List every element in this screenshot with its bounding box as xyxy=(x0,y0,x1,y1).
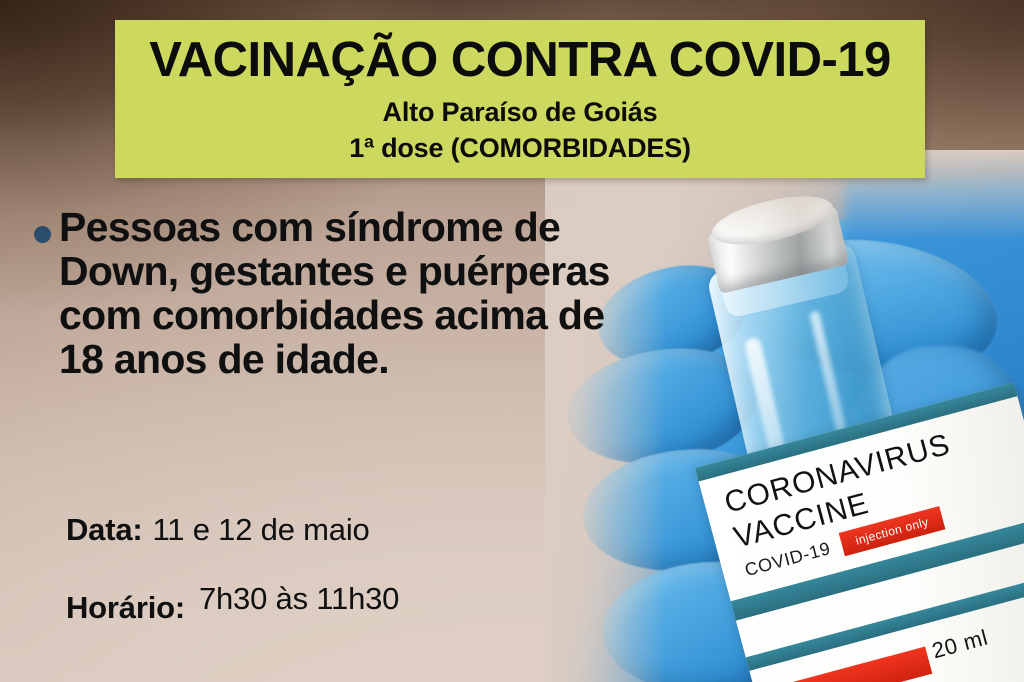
time-row: Horário: 7h30 às 11h30 xyxy=(66,590,399,626)
banner-subtitle-dose: 1ª dose (COMORBIDADES) xyxy=(115,126,925,162)
bullet-dot-icon xyxy=(34,226,51,243)
time-label: Horário: xyxy=(66,590,185,626)
header-banner: VACINAÇÃO CONTRA COVID-19 Alto Paraíso d… xyxy=(115,20,925,178)
vaccination-poster: CORONAVIRUS VACCINE COVID-19 injection o… xyxy=(0,0,1024,682)
time-value: 7h30 às 11h30 xyxy=(199,581,399,617)
date-row: Data: 11 e 12 de maio xyxy=(66,512,399,548)
date-label: Data: xyxy=(66,512,143,548)
schedule-info: Data: 11 e 12 de maio Horário: 7h30 às 1… xyxy=(66,512,399,626)
banner-subtitle-city: Alto Paraíso de Goiás xyxy=(115,85,925,126)
date-value: 11 e 12 de maio xyxy=(153,512,370,548)
eligibility-bullet: Pessoas com síndrome de Down, gestantes … xyxy=(33,206,633,381)
eligibility-text: Pessoas com síndrome de Down, gestantes … xyxy=(33,206,633,381)
page-title: VACINAÇÃO CONTRA COVID-19 xyxy=(115,20,925,85)
